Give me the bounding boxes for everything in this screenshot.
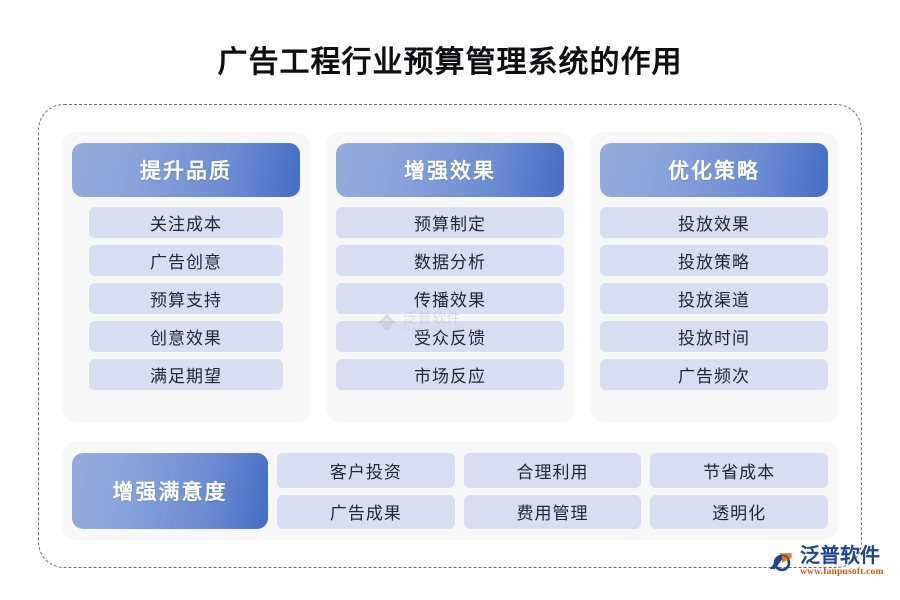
column-panel-3: 优化策略 投放效果 投放策略 投放渠道 投放时间 广告频次 [590, 132, 838, 422]
list-item[interactable]: 传播效果 [336, 283, 564, 314]
column-items-1: 关注成本 广告创意 预算支持 创意效果 满足期望 [72, 207, 300, 390]
list-item[interactable]: 预算支持 [89, 283, 283, 314]
column-items-3: 投放效果 投放策略 投放渠道 投放时间 广告频次 [600, 207, 828, 390]
infographic-page: { "page": { "title": "广告工程行业预算管理系统的作用", … [0, 0, 900, 600]
list-item[interactable]: 创意效果 [89, 321, 283, 352]
list-item[interactable]: 受众反馈 [336, 321, 564, 352]
list-item[interactable]: 透明化 [650, 495, 828, 530]
list-item[interactable]: 关注成本 [89, 207, 283, 238]
list-item[interactable]: 费用管理 [464, 495, 642, 530]
brand-logo: 泛普软件 www.fanpusoft.com [768, 546, 884, 578]
columns-row: 提升品质 关注成本 广告创意 预算支持 创意效果 满足期望 增强效果 预算制定 … [62, 132, 838, 422]
list-item[interactable]: 投放时间 [600, 321, 828, 352]
list-item[interactable]: 广告频次 [600, 359, 828, 390]
column-panel-2: 增强效果 预算制定 数据分析 传播效果 受众反馈 市场反应 [326, 132, 574, 422]
column-header-2[interactable]: 增强效果 [336, 143, 564, 197]
column-items-2: 预算制定 数据分析 传播效果 受众反馈 市场反应 [336, 207, 564, 390]
fanpu-brand-icon [768, 548, 796, 576]
brand-url: www.fanpusoft.com [800, 568, 884, 578]
list-item[interactable]: 满足期望 [89, 359, 283, 390]
bottom-band: 增强满意度 客户投资 合理利用 节省成本 广告成果 费用管理 透明化 [62, 442, 838, 540]
list-item[interactable]: 市场反应 [336, 359, 564, 390]
list-item[interactable]: 广告创意 [89, 245, 283, 276]
page-title: 广告工程行业预算管理系统的作用 [0, 44, 900, 82]
list-item[interactable]: 广告成果 [277, 495, 455, 530]
list-item[interactable]: 合理利用 [464, 453, 642, 488]
list-item[interactable]: 投放渠道 [600, 283, 828, 314]
list-item[interactable]: 投放策略 [600, 245, 828, 276]
column-header-3[interactable]: 优化策略 [600, 143, 828, 197]
column-panel-1: 提升品质 关注成本 广告创意 预算支持 创意效果 满足期望 [62, 132, 310, 422]
bottom-items-grid: 客户投资 合理利用 节省成本 广告成果 费用管理 透明化 [277, 453, 828, 529]
list-item[interactable]: 节省成本 [650, 453, 828, 488]
brand-text: 泛普软件 www.fanpusoft.com [800, 546, 884, 578]
bottom-header[interactable]: 增强满意度 [72, 453, 268, 529]
column-header-1[interactable]: 提升品质 [72, 143, 300, 197]
list-item[interactable]: 预算制定 [336, 207, 564, 238]
list-item[interactable]: 客户投资 [277, 453, 455, 488]
list-item[interactable]: 投放效果 [600, 207, 828, 238]
list-item[interactable]: 数据分析 [336, 245, 564, 276]
brand-name: 泛普软件 [800, 546, 884, 566]
